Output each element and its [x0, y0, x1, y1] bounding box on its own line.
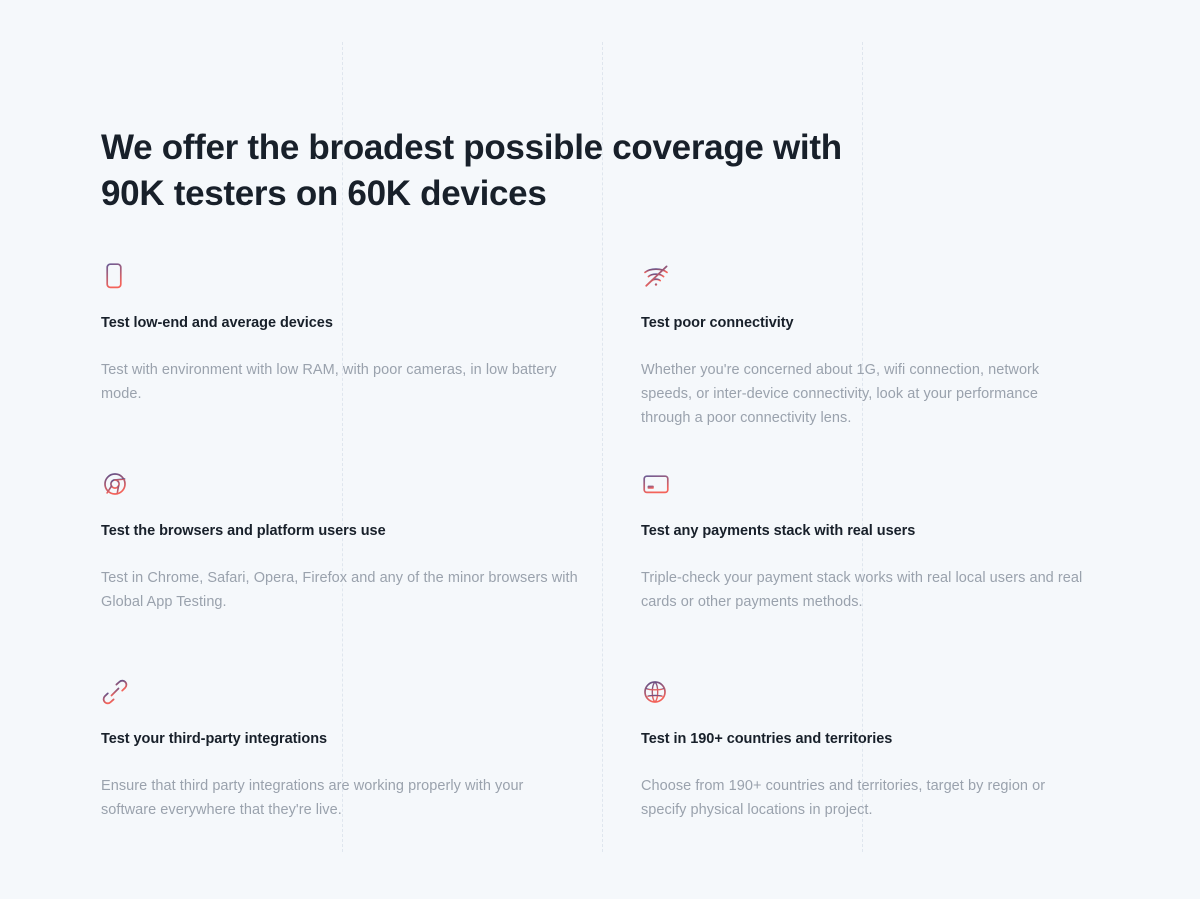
link-chain-icon	[101, 677, 579, 707]
feature-title: Test the browsers and platform users use	[101, 521, 579, 541]
section-content: We offer the broadest possible coverage …	[101, 0, 1101, 885]
feature-card-browsers: Test the browsers and platform users use…	[101, 469, 621, 677]
feature-card-payments: Test any payments stack with real users …	[621, 469, 1101, 677]
feature-card-low-end-devices: Test low-end and average devices Test wi…	[101, 261, 621, 469]
feature-description: Test in Chrome, Safari, Opera, Firefox a…	[101, 566, 579, 614]
feature-description: Ensure that third party integrations are…	[101, 774, 579, 822]
feature-title: Test poor connectivity	[641, 313, 1091, 333]
feature-title: Test in 190+ countries and territories	[641, 729, 1091, 749]
feature-description: Whether you're concerned about 1G, wifi …	[641, 358, 1091, 430]
smartphone-icon	[101, 261, 579, 291]
chrome-browser-icon	[101, 469, 579, 499]
credit-card-icon	[641, 469, 1091, 499]
page-title: We offer the broadest possible coverage …	[101, 125, 891, 217]
feature-title: Test any payments stack with real users	[641, 521, 1091, 541]
feature-card-integrations: Test your third-party integrations Ensur…	[101, 677, 621, 885]
feature-card-countries: Test in 190+ countries and territories C…	[621, 677, 1101, 885]
feature-title: Test low-end and average devices	[101, 313, 579, 333]
feature-description: Triple-check your payment stack works wi…	[641, 566, 1091, 614]
feature-description: Test with environment with low RAM, with…	[101, 358, 579, 406]
coverage-section: We offer the broadest possible coverage …	[0, 0, 1200, 899]
feature-card-poor-connectivity: Test poor connectivity Whether you're co…	[621, 261, 1101, 469]
wifi-off-icon	[641, 261, 1091, 291]
feature-description: Choose from 190+ countries and territori…	[641, 774, 1091, 822]
feature-title: Test your third-party integrations	[101, 729, 579, 749]
feature-grid: Test low-end and average devices Test wi…	[101, 261, 1101, 885]
globe-icon	[641, 677, 1091, 707]
